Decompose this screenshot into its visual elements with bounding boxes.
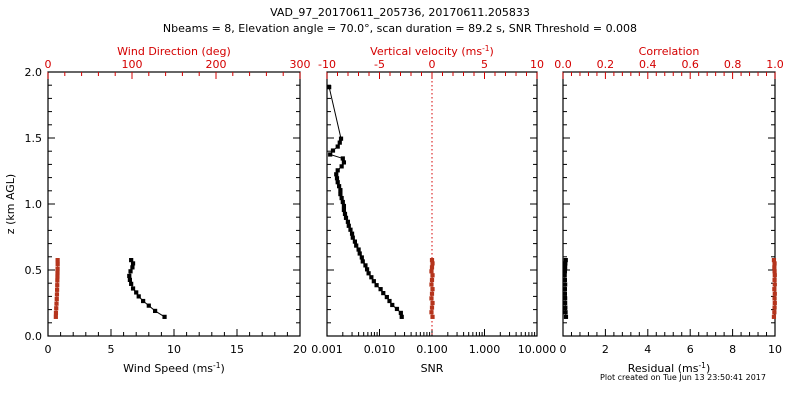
- panel-2-series-1-point: [390, 303, 394, 307]
- panel-2-series-2-point: [429, 282, 433, 286]
- panel-1-series-1-point: [130, 265, 134, 269]
- panel-2-series-1-point: [360, 255, 364, 259]
- y-axis-tick-label: 2.0: [25, 66, 43, 79]
- panel-2-series-1-point: [363, 263, 367, 267]
- panel-3-top-tick-label: 0.4: [639, 58, 657, 71]
- panel-2-top-tick-label: -5: [374, 58, 385, 71]
- panel-1-series-1-point: [137, 294, 141, 298]
- panel-2-series-1-point: [350, 232, 354, 236]
- y-axis-label: z (km AGL): [4, 174, 17, 234]
- panel-3-bottom-tick-label: 10: [768, 343, 782, 356]
- panel-2-series-1-point: [327, 85, 331, 89]
- panel-2-series-1-point: [385, 295, 389, 299]
- panel-2-series-1-point: [340, 164, 344, 168]
- panel-1-series-2-point: [55, 275, 59, 279]
- panel-2-series-1-point: [344, 216, 348, 220]
- panel-1-series-2-point: [54, 302, 58, 306]
- panel-2-series-1-point: [340, 196, 344, 200]
- panel-2-series-1-point: [353, 240, 357, 244]
- panel-3-top-tick-label: 0.8: [724, 58, 742, 71]
- panel-3-series-1-point: [563, 306, 567, 310]
- panel-2-series-2-point: [430, 273, 434, 277]
- panel-1-series-2-point: [55, 267, 59, 271]
- panel-2-series-2-point: [430, 292, 434, 296]
- panel-1-series-1-point: [162, 315, 166, 319]
- panel-1-series-2-point: [54, 306, 58, 310]
- panel-1-top-tick-label: 200: [206, 58, 227, 71]
- y-axis-tick-label: 0.0: [25, 330, 43, 343]
- panel-3-series-1-point: [564, 315, 568, 319]
- panel-2-series-2-point: [430, 301, 434, 305]
- panel-2-series-1-point: [336, 144, 340, 148]
- panel-2-series-2-point: [429, 296, 433, 300]
- panel-3-series-2-point: [772, 278, 776, 282]
- panel-1-series-2-point: [56, 258, 60, 262]
- panel-3-series-2-point: [772, 306, 776, 310]
- panel-2-series-1-point: [358, 251, 362, 255]
- panel-2-series-1-point: [343, 212, 347, 216]
- panel-3-top-tick-label: 1.0: [766, 58, 784, 71]
- panel-1-series-1-point: [128, 269, 132, 273]
- panel-3-series-1-point: [563, 265, 567, 269]
- panel-3-series-2-point: [772, 296, 776, 300]
- panel-1-bottom-axis-label: Wind Speed (ms-1): [123, 361, 225, 375]
- panel-2-series-1-point: [338, 141, 342, 145]
- panel-3-series-2-point: [772, 287, 776, 291]
- panel-1-series-1-point: [134, 290, 138, 294]
- y-axis-tick-label: 0.5: [25, 264, 43, 277]
- panel-2-series-1-point: [336, 180, 340, 184]
- panel-2-series-1-point: [334, 172, 338, 176]
- panel-2-series-1-point: [372, 279, 376, 283]
- panel-2-series-1-point: [335, 176, 339, 180]
- panel-3-series-2-point: [773, 273, 777, 277]
- panel-3-bottom-tick-label: 2: [602, 343, 609, 356]
- panel-2-series-1-point: [336, 168, 340, 172]
- panel-2-series-1-point: [347, 224, 351, 228]
- panel-2-series-1-point: [374, 283, 378, 287]
- panel-2-series-1-point: [341, 156, 345, 160]
- panel-2-series-1-point: [399, 311, 403, 315]
- panel-2-series-1-point: [348, 228, 352, 232]
- panel-3-series-2-point: [772, 265, 776, 269]
- panel-1-series-2-point: [55, 288, 59, 292]
- panel-1-series-2-point: [54, 311, 58, 315]
- panel-2-series-2-point: [430, 258, 434, 262]
- panel-1-series-1-point: [131, 286, 135, 290]
- panel-2-bottom-tick-label: 0.010: [364, 343, 396, 356]
- panel-1-series-2-point: [55, 292, 59, 296]
- panel-3-series-1-point: [563, 287, 567, 291]
- panel-3-series-1-point: [564, 258, 568, 262]
- panel-3-bottom-tick-label: 4: [644, 343, 651, 356]
- panel-2-series-1-point: [346, 220, 350, 224]
- panel-2-top-tick-label: -10: [318, 58, 336, 71]
- panel-3-top-tick-label: 0.2: [597, 58, 615, 71]
- panel-2-series-2-point: [429, 310, 433, 314]
- panel-2-series-2-point: [430, 287, 434, 291]
- y-axis-tick-label: 1.0: [25, 198, 43, 211]
- panel-2-series-1-point: [337, 184, 341, 188]
- panel-1-bottom-tick-label: 10: [167, 343, 181, 356]
- panel-3-series-1-point: [563, 296, 567, 300]
- figure-canvas: VAD_97_20170611_205736, 20170611.205833N…: [0, 0, 800, 400]
- panel-2-top-tick-label: 5: [481, 58, 488, 71]
- panel-3-series-2-point: [773, 292, 777, 296]
- panel-1-top-tick-label: 100: [122, 58, 143, 71]
- panel-2-series-2-point: [430, 306, 434, 310]
- panel-3-series-1-point: [563, 282, 567, 286]
- panel-2-bottom-tick-label: 10.000: [518, 343, 557, 356]
- panel-2-top-tick-label: 10: [530, 58, 544, 71]
- panel-1-series-1-point: [127, 274, 131, 278]
- panel-3-bottom-tick-label: 8: [729, 343, 736, 356]
- panel-2-series-1-line: [329, 87, 402, 317]
- panel-1-series-1-point: [153, 309, 157, 313]
- panel-3-frame: [563, 72, 775, 336]
- panel-3-series-1-point: [563, 273, 567, 277]
- vad-plot-figure: VAD_97_20170611_205736, 20170611.205833N…: [0, 0, 800, 400]
- panel-3-series-2-point: [772, 315, 776, 319]
- panel-1-frame: [48, 72, 300, 336]
- panel-3-top-tick-label: 0.6: [681, 58, 699, 71]
- panel-1-top-tick-label: 300: [290, 58, 311, 71]
- panel-3-series-2-point: [772, 258, 776, 262]
- panel-1-series-2-point: [55, 278, 59, 282]
- panel-3-series-1-point: [563, 292, 567, 296]
- panel-1-top-tick-label: 0: [45, 58, 52, 71]
- panel-2-series-1-point: [342, 204, 346, 208]
- panel-1-series-1-point: [147, 304, 151, 308]
- panel-3-series-2-point: [772, 310, 776, 314]
- panel-1-series-2-point: [56, 262, 60, 266]
- panel-1-series-2-point: [55, 271, 59, 275]
- panel-2-series-1-point: [354, 243, 358, 247]
- scan-parameters-subtitle: Nbeams = 8, Elevation angle = 70.0°, sca…: [163, 22, 637, 35]
- panel-3-series-1-point: [563, 278, 567, 282]
- panel-2-series-1-point: [341, 200, 345, 204]
- panel-3-series-1-point: [563, 301, 567, 305]
- panel-2-series-1-point: [338, 192, 342, 196]
- panel-2-series-1-point: [395, 307, 399, 311]
- y-axis-tick-label: 1.5: [25, 132, 43, 145]
- panel-3-series-1-point: [563, 310, 567, 314]
- panel-3-top-tick-label: 0.0: [554, 58, 572, 71]
- panel-2-top-axis-label: Vertical velocity (ms-1): [370, 44, 494, 58]
- panel-2-bottom-tick-label: 1.000: [469, 343, 501, 356]
- panel-2-series-1-point: [357, 247, 361, 251]
- panel-2-series-2-point: [430, 315, 434, 319]
- panel-2-top-tick-label: 0: [429, 58, 436, 71]
- panel-3-bottom-axis-label: Residual (ms-1): [628, 361, 710, 375]
- panel-1-series-1-point: [128, 278, 132, 282]
- panel-3-series-1-point: [563, 269, 567, 273]
- panel-2-series-1-point: [400, 315, 404, 319]
- panel-3-bottom-tick-label: 0: [560, 343, 567, 356]
- panel-1-top-axis-label: Wind Direction (deg): [117, 45, 231, 58]
- panel-1-series-2-point: [54, 315, 58, 319]
- panel-2-series-1-point: [328, 152, 332, 156]
- panel-3-series-2-point: [773, 301, 777, 305]
- panel-2-series-1-point: [342, 208, 346, 212]
- panel-2-series-1-point: [339, 137, 343, 141]
- panel-2-series-1-point: [367, 271, 371, 275]
- panel-3-series-2-point: [773, 282, 777, 286]
- panel-2-series-1-point: [365, 267, 369, 271]
- page-title: VAD_97_20170611_205736, 20170611.205833: [270, 6, 530, 19]
- panel-1-bottom-tick-label: 20: [293, 343, 307, 356]
- panel-2-series-1-point: [351, 236, 355, 240]
- panel-2-series-1-point: [342, 160, 346, 164]
- panel-1-series-1-point: [141, 299, 145, 303]
- panel-3-top-axis-label: Correlation: [639, 45, 700, 58]
- panel-2-series-2-point: [430, 265, 434, 269]
- panel-3-series-2-point: [772, 269, 776, 273]
- panel-2-series-1-point: [369, 275, 373, 279]
- panel-1-bottom-tick-label: 5: [108, 343, 115, 356]
- panel-2-series-1-point: [387, 299, 391, 303]
- panel-2-series-1-point: [381, 291, 385, 295]
- panel-2-bottom-tick-label: 0.001: [311, 343, 343, 356]
- panel-1-series-2-point: [55, 297, 59, 301]
- panel-2-series-1-point: [331, 148, 335, 152]
- panel-1-series-2-point: [55, 283, 59, 287]
- panel-1-bottom-tick-label: 15: [230, 343, 244, 356]
- panel-2-bottom-axis-label: SNR: [421, 362, 444, 375]
- panel-1-series-1-point: [129, 282, 133, 286]
- panel-2-series-2-point: [430, 278, 434, 282]
- panel-2-bottom-tick-label: 0.100: [416, 343, 448, 356]
- panel-1-series-1-point: [129, 258, 133, 262]
- panel-2-series-1-point: [379, 287, 383, 291]
- panel-2-series-2-point: [429, 269, 433, 273]
- panel-2-series-1-point: [361, 259, 365, 263]
- panel-3-bottom-tick-label: 6: [687, 343, 694, 356]
- panel-1-bottom-tick-label: 0: [45, 343, 52, 356]
- panel-2-series-1-point: [338, 188, 342, 192]
